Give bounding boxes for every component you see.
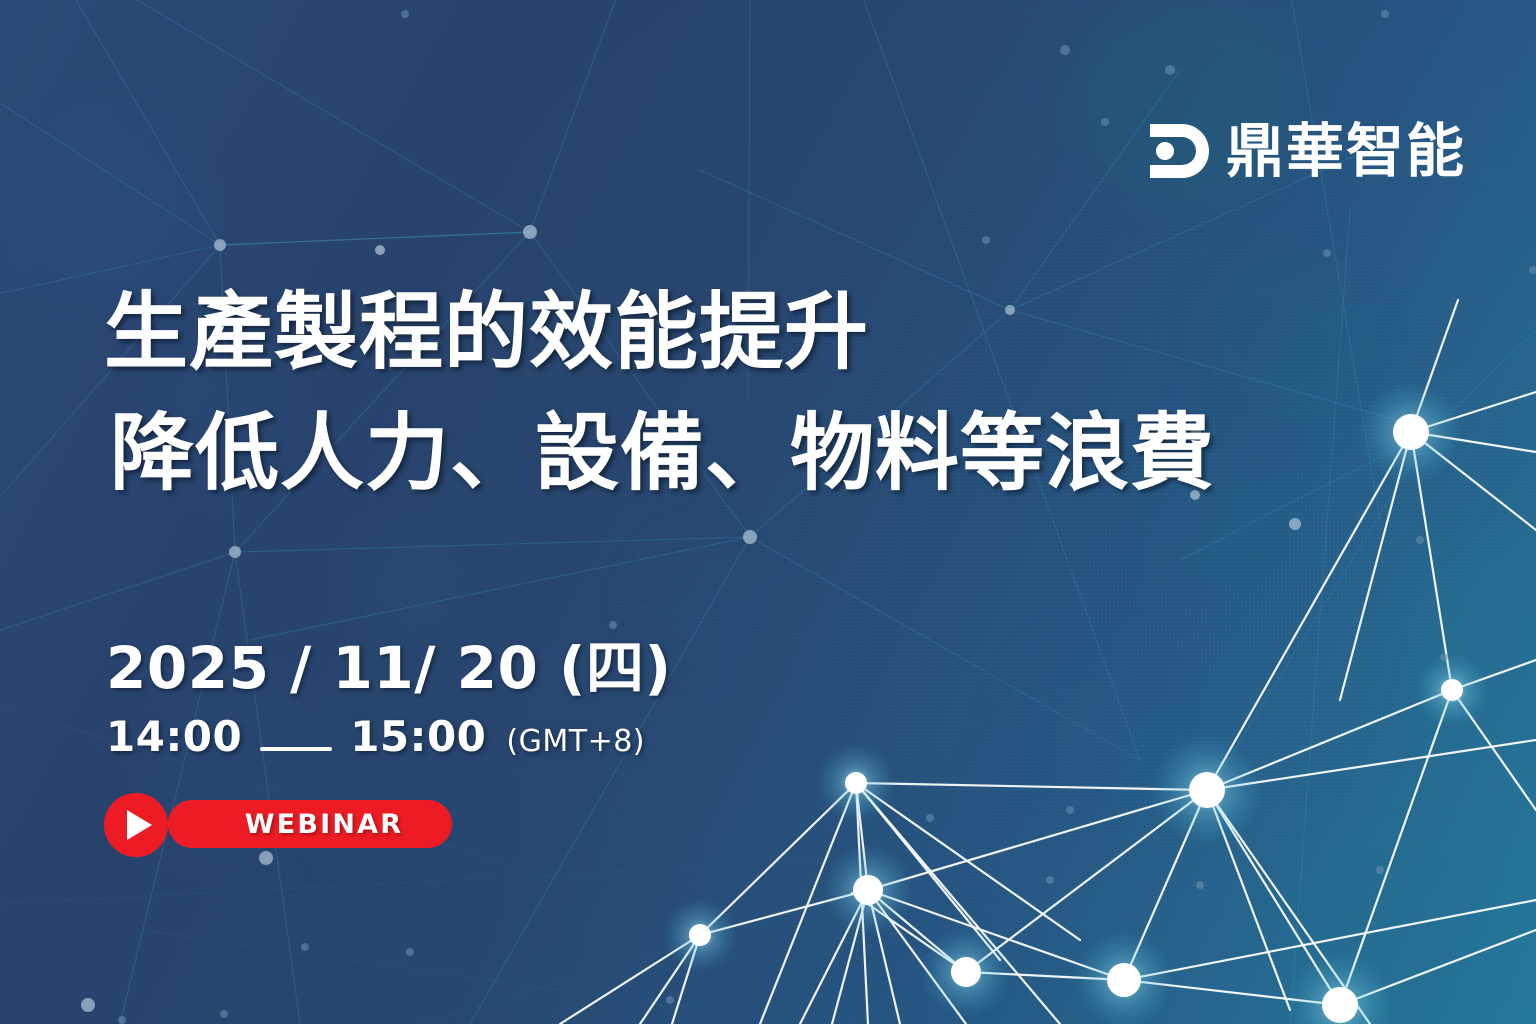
headline-line-1: 生產製程的效能提升 <box>104 272 1215 393</box>
event-timezone: (GMT+8) <box>506 724 645 759</box>
webinar-badge-label: WEBINAR <box>214 800 434 848</box>
brand-name: 鼎華智能 <box>1226 122 1466 180</box>
event-time-start: 14:00 <box>106 712 242 761</box>
brand-logo: 鼎華智能 <box>1148 122 1466 180</box>
headline: 生產製程的效能提升 降低人力、設備、物料等浪費 <box>104 272 1215 514</box>
play-triangle-icon <box>127 810 152 840</box>
event-time: 14:00 15:00 (GMT+8) <box>106 712 645 763</box>
headline-line-2: 降低人力、設備、物料等浪費 <box>110 393 1215 514</box>
dinghua-d-mark-icon <box>1148 122 1210 180</box>
event-date: 2025 / 11/ 20 (四) <box>106 621 672 705</box>
event-time-end: 15:00 <box>350 712 486 761</box>
webinar-banner: 鼎華智能 生產製程的效能提升 降低人力、設備、物料等浪費 2025 / 11/ … <box>0 0 1536 1024</box>
webinar-play-button[interactable] <box>104 793 168 857</box>
time-range-dash <box>260 747 332 751</box>
